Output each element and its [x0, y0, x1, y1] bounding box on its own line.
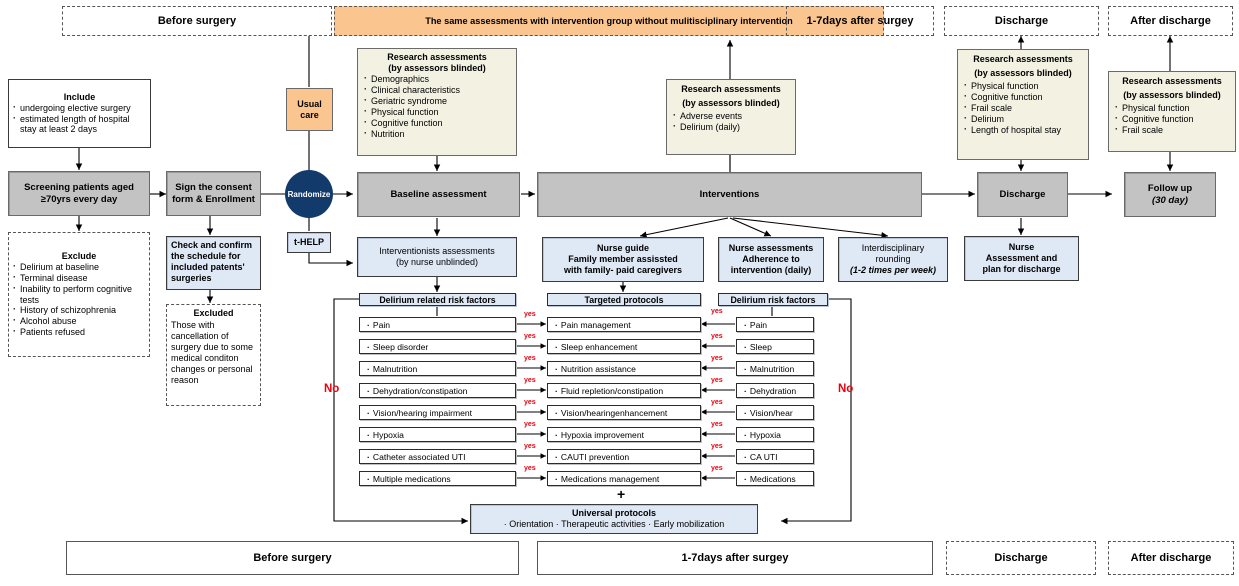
- yes-label: yes: [524, 355, 536, 362]
- interdisciplinary-line3: (1-2 times per week): [850, 265, 936, 276]
- universal-protocols-title: Universal protocols: [572, 508, 656, 519]
- yes-label: yes: [711, 377, 723, 384]
- interdisciplinary-rounding-box: Interdisciplinary rounding (1-2 times pe…: [838, 237, 948, 282]
- list-item: Terminal disease: [12, 273, 146, 284]
- no-label-left: No: [324, 383, 339, 395]
- timeline-top-after-discharge: After discharge: [1108, 6, 1233, 36]
- screening-patients-box: Screening patients aged ≥70yrs every day: [8, 171, 150, 216]
- research-list: Physical function Cognitive function Fra…: [963, 81, 1083, 136]
- list-item: Physical function: [363, 107, 511, 118]
- list-item: Cognitive function: [363, 118, 511, 129]
- research-title: Research assessments: [1114, 76, 1230, 87]
- t-help-box: t-HELP: [287, 232, 331, 253]
- matrix-center-item: Sleep enhancement: [547, 339, 701, 354]
- list-item: Alcohol abuse: [12, 316, 146, 327]
- excluded-box: Excluded Those with cancellation of surg…: [166, 304, 261, 406]
- research-list: Physical function Cognitive function Fra…: [1114, 103, 1230, 136]
- research-list: Adverse events Delirium (daily): [672, 111, 790, 133]
- timeline-top-discharge: Discharge: [944, 6, 1099, 36]
- yes-label: yes: [524, 311, 536, 318]
- universal-protocols-items: · Orientation · Therapeutic activities ·…: [504, 519, 724, 530]
- matrix-center-item: Nutrition assistance: [547, 361, 701, 376]
- matrix-right-item: Hypoxia: [736, 427, 814, 442]
- matrix-right-item: Sleep: [736, 339, 814, 354]
- baseline-research-assessments-box: Research assessments (by assessors blind…: [357, 48, 517, 156]
- research-list: Demographics Clinical characteristics Ge…: [363, 74, 511, 140]
- interdisciplinary-line1: Interdisciplinary: [862, 243, 925, 254]
- baseline-assessment-box: Baseline assessment: [357, 172, 520, 217]
- nurse-discharge-line1: Nurse: [1009, 242, 1035, 253]
- yes-label: yes: [711, 465, 723, 472]
- list-item: Cognitive function: [963, 92, 1083, 103]
- nurse-guide-line1: Nurse guide: [597, 243, 649, 254]
- interdisciplinary-line2: rounding: [875, 254, 910, 265]
- interventions-box: Interventions: [537, 172, 922, 217]
- research-title: Research assessments: [363, 52, 511, 63]
- research-subtitle: (by assessors blinded): [1114, 90, 1230, 101]
- nurse-assessments-box: Nurse assessments Adherence to intervent…: [718, 237, 824, 282]
- yes-label: yes: [524, 333, 536, 340]
- timeline-top-before-surgery: Before surgery: [62, 6, 332, 36]
- exclude-title: Exclude: [12, 251, 146, 262]
- list-item: History of schizophrenia: [12, 305, 146, 316]
- list-item: Frail scale: [1114, 125, 1230, 136]
- matrix-left-item: Pain: [359, 317, 516, 332]
- list-item: Inability to perform cognitive tests: [12, 284, 146, 306]
- timeline-bottom-after-surgery: 1-7days after surgey: [537, 541, 933, 575]
- matrix-left-item: Vision/hearing impairment: [359, 405, 516, 420]
- timeline-bottom-discharge: Discharge: [946, 541, 1096, 575]
- matrix-right-item: Vision/hear: [736, 405, 814, 420]
- intraop-research-assessments-box: Research assessments (by assessors blind…: [666, 79, 796, 155]
- excluded-title: Excluded: [171, 308, 256, 319]
- usual-care-box: Usual care: [286, 88, 333, 131]
- include-criteria-box: Include undergoing elective surgery esti…: [8, 79, 151, 148]
- list-item: Length of hospital stay: [963, 125, 1083, 136]
- matrix-left-item: Multiple medications: [359, 471, 516, 486]
- timeline-top-after-surgery: 1-7days after surgey: [786, 6, 934, 36]
- nurse-guide-line2: Family member assissted: [568, 254, 678, 265]
- matrix-center-item: Hypoxia improvement: [547, 427, 701, 442]
- universal-protocols-box: Universal protocols · Orientation · Ther…: [470, 504, 758, 534]
- check-schedule-box: Check and confirm the schedule for inclu…: [166, 236, 261, 290]
- interventionists-line1: Interventionists assessments: [379, 246, 495, 257]
- list-item: Geriatric syndrome: [363, 96, 511, 107]
- nurse-discharge-line3: plan for discharge: [982, 264, 1060, 275]
- no-label-right: No: [838, 383, 853, 395]
- interventionists-assessments-box: Interventionists assessments (by nurse u…: [357, 237, 517, 277]
- matrix-center-item: Fluid repletion/constipation: [547, 383, 701, 398]
- list-item: Nutrition: [363, 129, 511, 140]
- matrix-left-item: Malnutrition: [359, 361, 516, 376]
- list-item: Cognitive function: [1114, 114, 1230, 125]
- list-item: Physical function: [1114, 103, 1230, 114]
- yes-label: yes: [711, 308, 723, 315]
- matrix-center-header: Targeted protocols: [547, 293, 701, 306]
- matrix-right-item: Dehydration: [736, 383, 814, 398]
- yes-label: yes: [711, 421, 723, 428]
- research-title: Research assessments: [963, 54, 1083, 65]
- matrix-center-item: CAUTI prevention: [547, 449, 701, 464]
- flowchart-diagram: Before surgery The same assessments with…: [0, 0, 1239, 586]
- plus-symbol: +: [617, 487, 625, 501]
- nurse-guide-line3: with family- paid caregivers: [564, 265, 682, 276]
- nurse-discharge-plan-box: Nurse Assessment and plan for discharge: [964, 236, 1079, 281]
- nurse-discharge-line2: Assessment and: [986, 253, 1058, 264]
- matrix-left-item: Sleep disorder: [359, 339, 516, 354]
- nurse-assessments-line1: Nurse assessments: [729, 243, 814, 254]
- nurse-assessments-line3: intervention (daily): [731, 265, 812, 276]
- consent-enrollment-box: Sign the consent form & Enrollment: [166, 171, 261, 216]
- follow-up-duration: (30 day): [1152, 195, 1188, 207]
- excluded-body: Those with cancellation of surgery due t…: [171, 320, 256, 386]
- discharge-box: Discharge: [977, 172, 1068, 217]
- research-title: Research assessments: [672, 84, 790, 95]
- discharge-research-assessments-box: Research assessments (by assessors blind…: [957, 49, 1089, 160]
- yes-label: yes: [524, 465, 536, 472]
- include-list: undergoing elective surgery estimated le…: [12, 103, 147, 136]
- matrix-left-item: Dehydration/constipation: [359, 383, 516, 398]
- list-item: estimated length of hospital stay at lea…: [12, 114, 147, 136]
- matrix-right-item: CA UTI: [736, 449, 814, 464]
- list-item: Adverse events: [672, 111, 790, 122]
- yes-label: yes: [711, 399, 723, 406]
- nurse-assessments-line2: Adherence to: [742, 254, 800, 265]
- timeline-bottom-after-discharge: After discharge: [1108, 541, 1234, 575]
- matrix-right-item: Malnutrition: [736, 361, 814, 376]
- matrix-left-item: Catheter associated UTI: [359, 449, 516, 464]
- research-subtitle: (by assessors blinded): [672, 98, 790, 109]
- yes-label: yes: [524, 377, 536, 384]
- list-item: undergoing elective surgery: [12, 103, 147, 114]
- include-title: Include: [12, 92, 147, 103]
- yes-label: yes: [524, 443, 536, 450]
- follow-up-box: Follow up (30 day): [1124, 172, 1216, 217]
- matrix-left-item: Hypoxia: [359, 427, 516, 442]
- matrix-right-header: Delirium risk factors: [718, 293, 828, 306]
- list-item: Clinical characteristics: [363, 85, 511, 96]
- yes-label: yes: [711, 333, 723, 340]
- research-subtitle: (by assessors blinded): [363, 63, 511, 74]
- exclude-criteria-box: Exclude Delirium at baseline Terminal di…: [8, 232, 150, 357]
- yes-label: yes: [711, 443, 723, 450]
- yes-label: yes: [524, 421, 536, 428]
- list-item: Physical function: [963, 81, 1083, 92]
- list-item: Delirium (daily): [672, 122, 790, 133]
- matrix-right-item: Pain: [736, 317, 814, 332]
- yes-label: yes: [524, 399, 536, 406]
- matrix-left-header: Delirium related risk factors: [359, 293, 516, 306]
- interventionists-line2: (by nurse unblinded): [396, 257, 478, 268]
- list-item: Patients refused: [12, 327, 146, 338]
- matrix-center-item: Vision/hearingenhancement: [547, 405, 701, 420]
- follow-up-label: Follow up: [1148, 183, 1192, 195]
- list-item: Frail scale: [963, 103, 1083, 114]
- yes-label: yes: [711, 355, 723, 362]
- matrix-center-item: Medications management: [547, 471, 701, 486]
- nurse-guide-box: Nurse guide Family member assissted with…: [542, 237, 704, 282]
- randomize-node: Randomize: [285, 170, 333, 218]
- list-item: Delirium at baseline: [12, 262, 146, 273]
- list-item: Delirium: [963, 114, 1083, 125]
- exclude-list: Delirium at baseline Terminal disease In…: [12, 262, 146, 339]
- matrix-right-item: Medications: [736, 471, 814, 486]
- followup-research-assessments-box: Research assessments (by assessors blind…: [1108, 71, 1236, 152]
- timeline-bottom-before-surgery: Before surgery: [66, 541, 519, 575]
- matrix-center-item: Pain management: [547, 317, 701, 332]
- research-subtitle: (by assessors blinded): [963, 68, 1083, 79]
- list-item: Demographics: [363, 74, 511, 85]
